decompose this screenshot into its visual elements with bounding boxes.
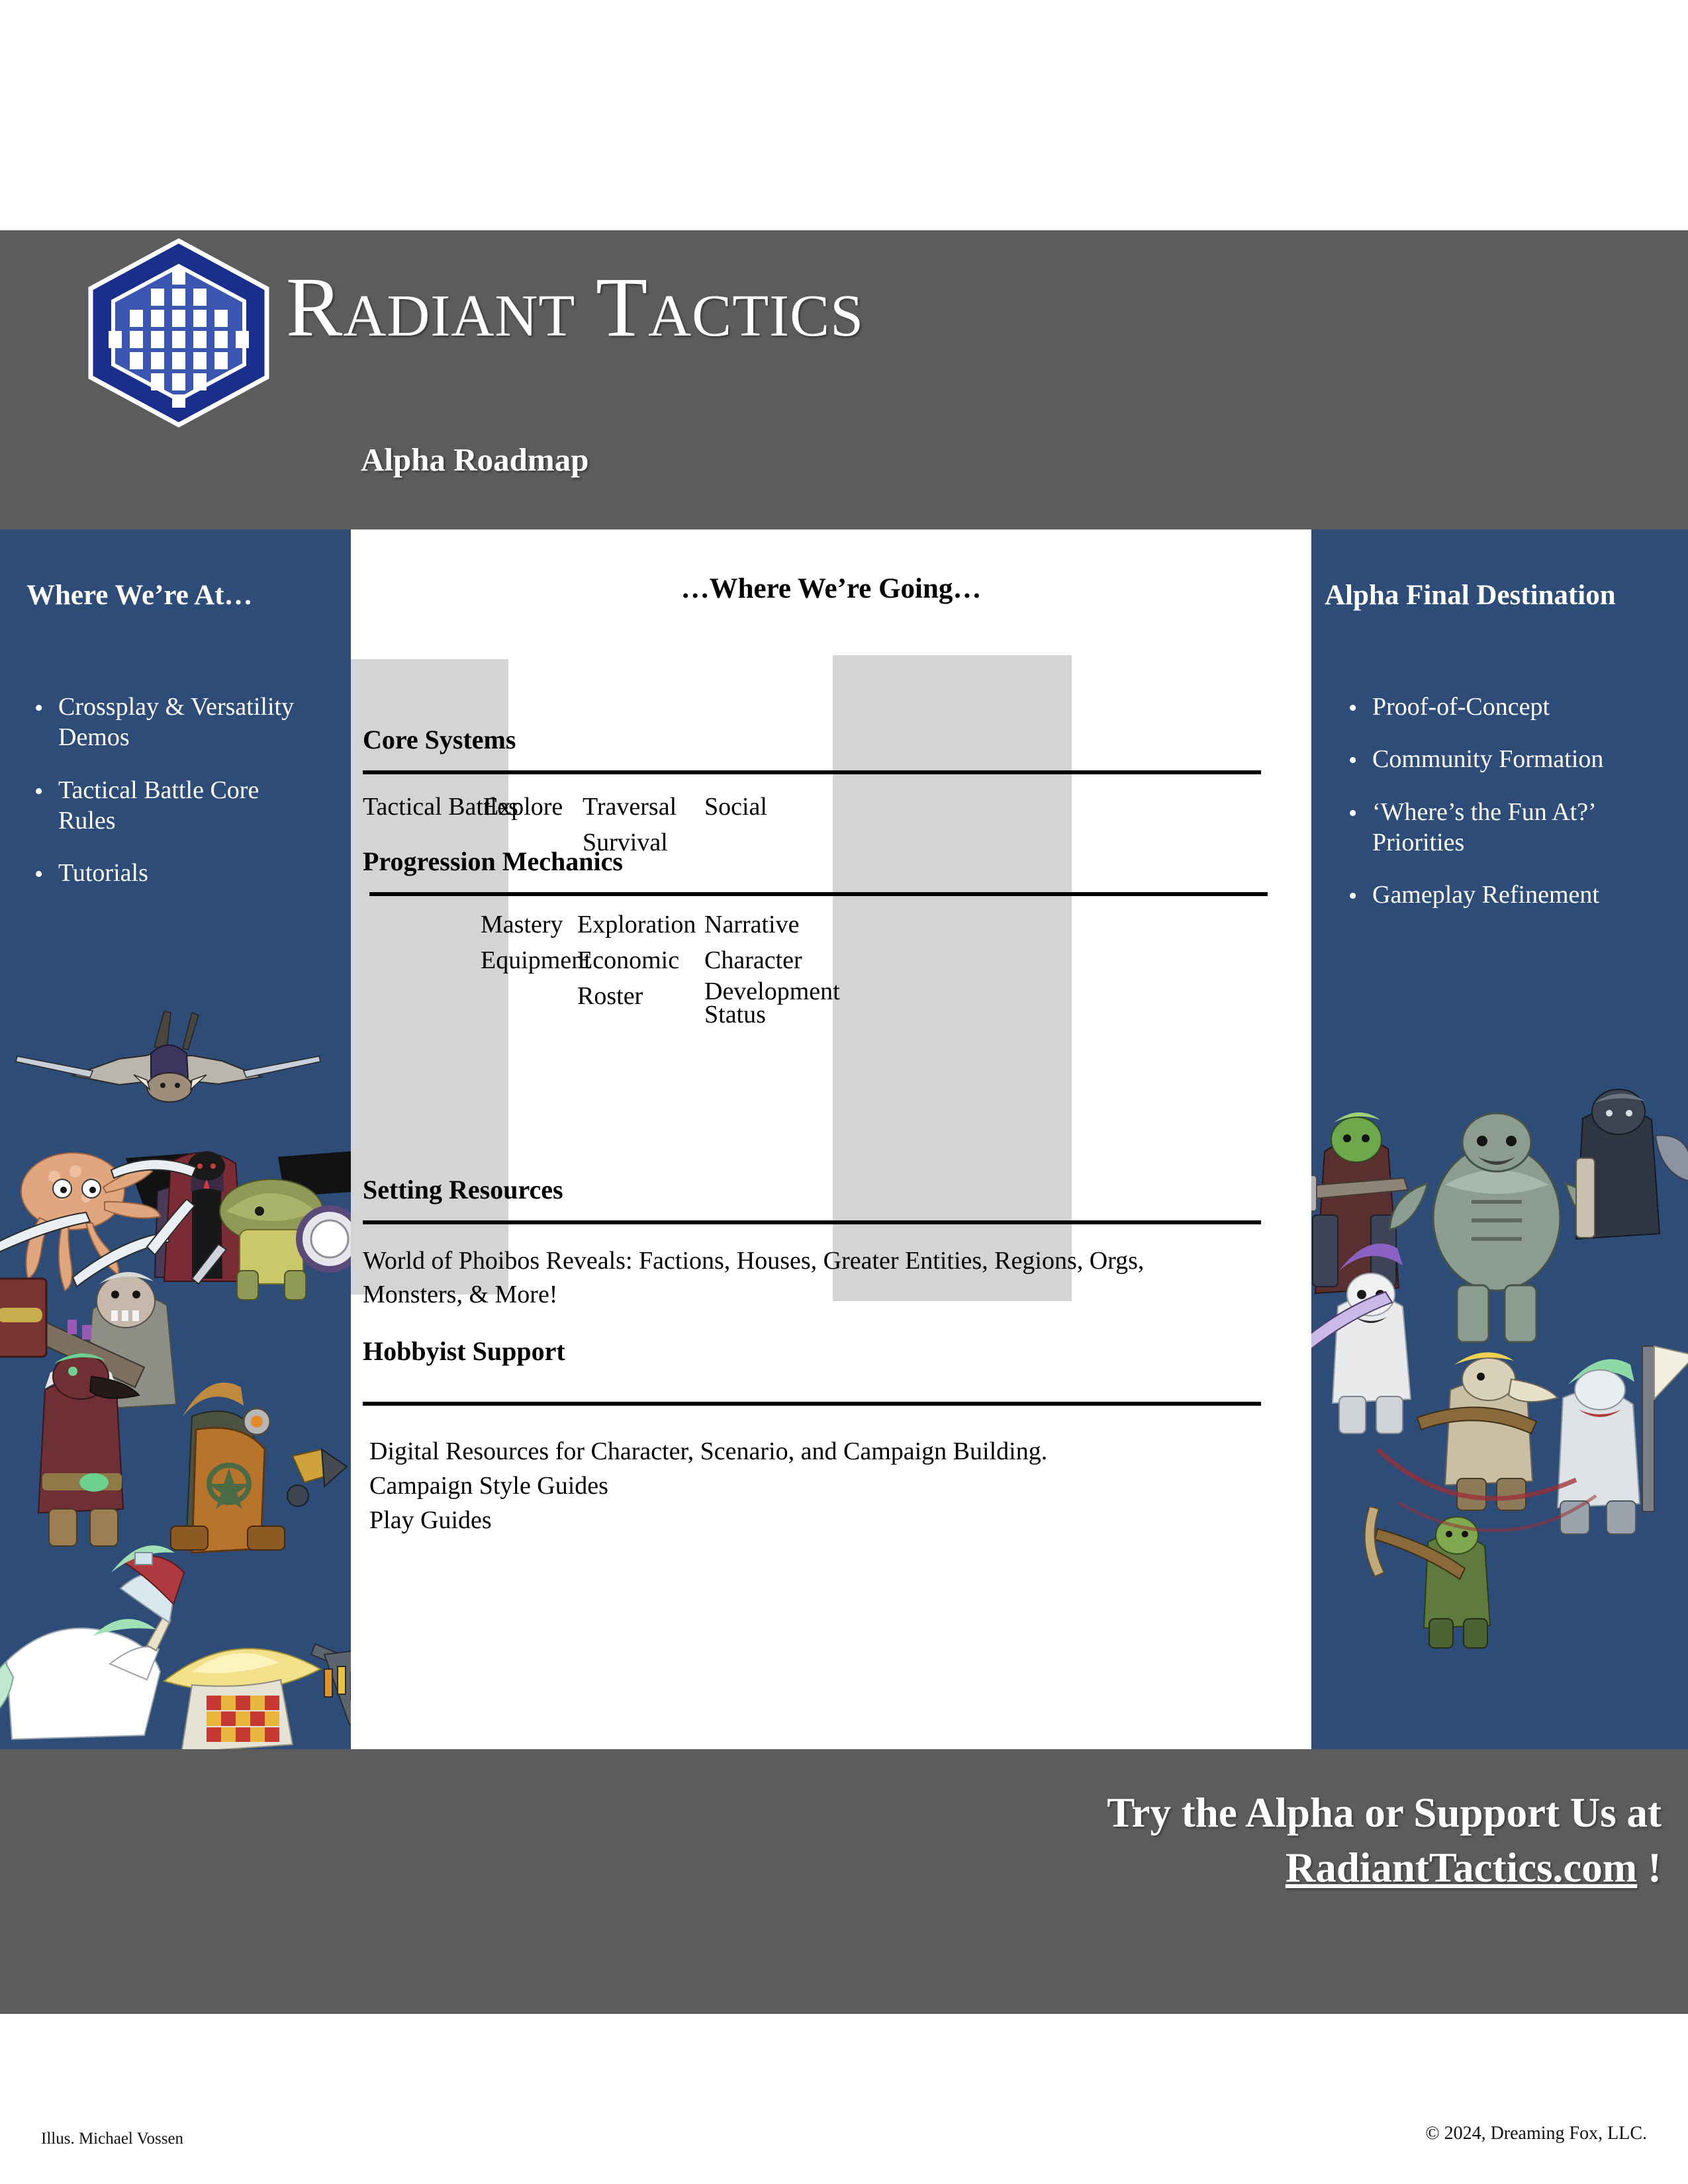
left-character-artwork [0, 993, 364, 1754]
section-title-core-systems: Core Systems [363, 724, 516, 755]
radianttactics-link[interactable]: RadiantTactics.com [1286, 1844, 1637, 1891]
page-title: Radiant Tactics [286, 265, 864, 349]
list-item-label: ‘Where’s the Fun At?’ Priorities [1372, 798, 1595, 856]
bullet-icon: • [34, 859, 43, 889]
section-title-progression-mechanics: Progression Mechanics [363, 846, 623, 877]
cta-text: Try the Alpha or Support Us at RadiantTa… [1107, 1786, 1662, 1895]
section-rule-setting-resources [363, 1220, 1261, 1224]
roadmap-chart: …Where We’re Going… Core Systems Tactica… [351, 529, 1311, 1749]
page-header: Radiant Tactics Alpha Roadmap [0, 230, 1688, 529]
bullet-icon: • [34, 693, 43, 723]
right-character-artwork [1298, 1079, 1688, 1727]
left-panel-bullet-list: •Crossplay & Versatility Demos •Tactical… [29, 692, 314, 911]
list-item-label: Tutorials [58, 859, 148, 887]
list-item: •Community Formation [1343, 744, 1648, 774]
list-item: •Proof-of-Concept [1343, 692, 1648, 722]
cell-prog-col3-1: Economic [577, 945, 679, 976]
section-rule-hobbyist-support [363, 1402, 1261, 1406]
cell-prog-col2-0: Mastery [481, 909, 563, 940]
bullet-icon: • [1348, 798, 1357, 829]
list-item-label: Gameplay Refinement [1372, 881, 1599, 909]
bullet-icon: • [1348, 745, 1357, 776]
list-item: •Crossplay & Versatility Demos [29, 692, 314, 753]
left-panel: Where We’re At… •Crossplay & Versatility… [0, 529, 351, 1749]
setting-resources-body: World of Phoibos Reveals: Factions, Hous… [363, 1244, 1243, 1311]
page-subtitle: Alpha Roadmap [361, 441, 588, 478]
list-item-label: Proof-of-Concept [1372, 693, 1550, 721]
center-panel-title: …Where We’re Going… [351, 572, 1311, 605]
section-title-hobbyist-support: Hobbyist Support [363, 1336, 565, 1367]
section-rule-progression-mechanics [369, 892, 1268, 896]
list-item-label: Tactical Battle Core Rules [58, 776, 259, 835]
left-panel-title: Where We’re At… [26, 579, 253, 612]
cell-core-col2-0: Explore [483, 792, 563, 823]
highlight-band-column-3 [833, 655, 1072, 1301]
list-item-label: Crossplay & Versatility Demos [58, 693, 294, 751]
illustrator-credit: Illus. Michael Vossen [41, 2130, 183, 2148]
right-panel-title: Alpha Final Destination [1325, 579, 1616, 612]
cell-core-col4-0: Social [704, 792, 767, 823]
hobbyist-line-2: Play Guides [369, 1504, 492, 1537]
cta-line-1: Try the Alpha or Support Us at [1107, 1786, 1662, 1841]
cell-prog-col4-0: Narrative [704, 909, 799, 940]
center-panel: …Where We’re Going… Core Systems Tactica… [351, 529, 1311, 1749]
cell-prog-col4-2: Status [704, 999, 766, 1030]
list-item-label: Community Formation [1372, 745, 1603, 773]
cell-prog-col3-0: Exploration [577, 909, 696, 940]
cell-core-col3-0: Traversal [583, 792, 677, 823]
section-title-setting-resources: Setting Resources [363, 1174, 563, 1205]
cta-band: Try the Alpha or Support Us at RadiantTa… [0, 1749, 1688, 2014]
list-item: •Tactical Battle Core Rules [29, 775, 314, 837]
right-panel: Alpha Final Destination •Proof-of-Concep… [1311, 529, 1688, 1749]
cell-prog-col3-2: Roster [577, 981, 643, 1012]
list-item: •Gameplay Refinement [1343, 880, 1648, 910]
bullet-icon: • [1348, 881, 1357, 911]
cell-prog-col4-1: Character Development [704, 945, 823, 1007]
section-rule-core-systems [363, 770, 1261, 774]
cell-prog-col2-1: Equipment [481, 945, 591, 976]
right-panel-bullet-list: •Proof-of-Concept •Community Formation •… [1343, 692, 1648, 933]
hexagon-grid-logo-icon [83, 237, 275, 429]
bullet-icon: • [1348, 693, 1357, 723]
hobbyist-line-1: Campaign Style Guides [369, 1469, 608, 1503]
list-item: •‘Where’s the Fun At?’ Priorities [1343, 797, 1648, 858]
copyright-notice: © 2024, Dreaming Fox, LLC. [1425, 2123, 1647, 2144]
bullet-icon: • [34, 776, 43, 807]
list-item: •Tutorials [29, 858, 314, 888]
hobbyist-line-0: Digital Resources for Character, Scenari… [369, 1435, 1047, 1469]
cta-suffix: ! [1637, 1844, 1662, 1891]
